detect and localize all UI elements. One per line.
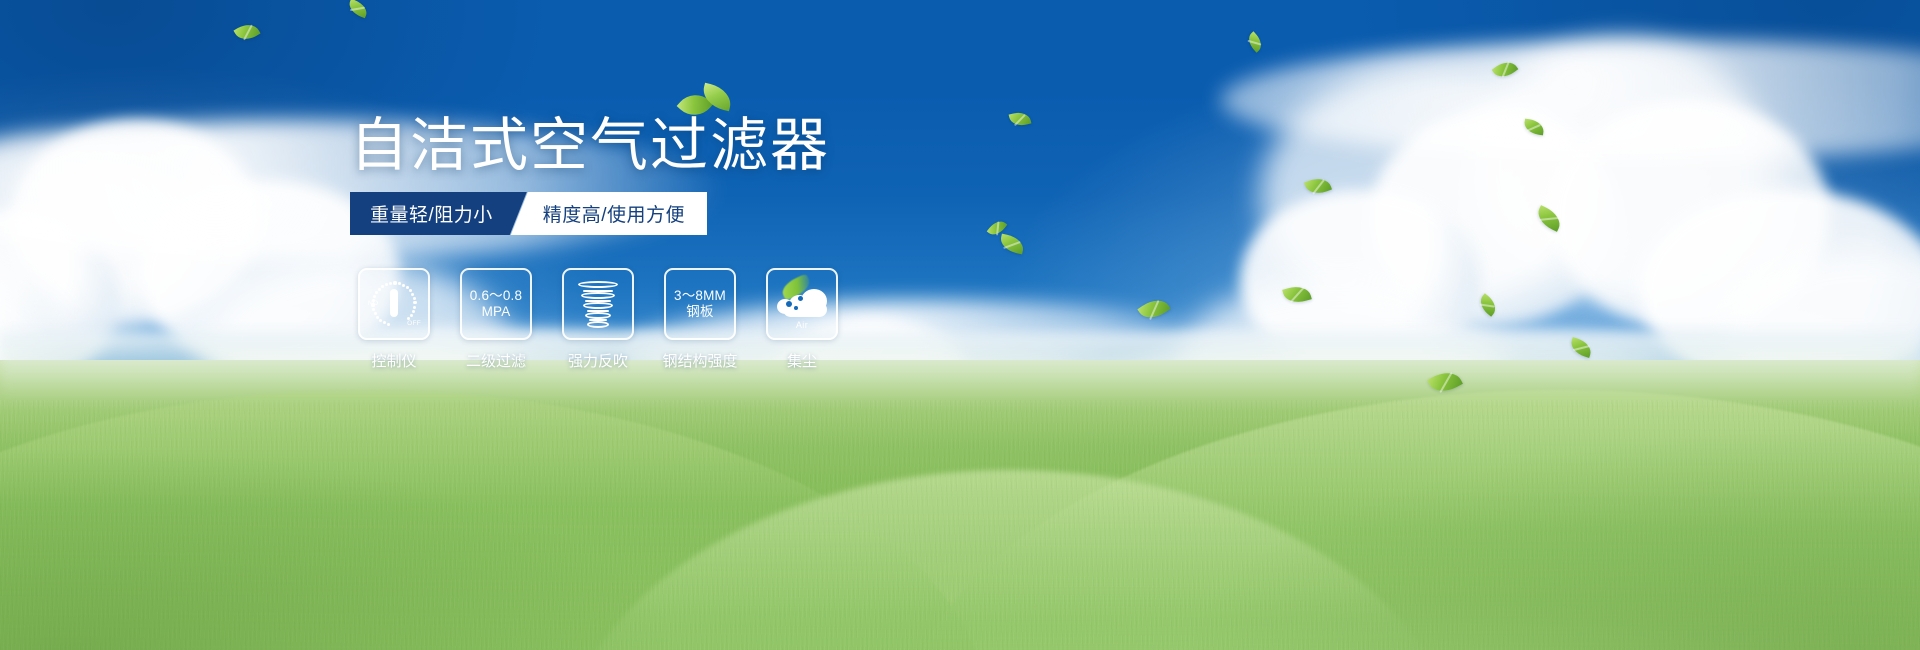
feature-box bbox=[562, 268, 634, 340]
feature-label: 强力反吹 bbox=[568, 350, 628, 371]
dial-icon: NO OFF bbox=[369, 279, 419, 329]
dial-no-label: NO bbox=[368, 300, 378, 307]
steel-material: 钢板 bbox=[686, 304, 713, 320]
pressure-value: 0.6～0.8 bbox=[470, 288, 522, 304]
feature-item-strong-backblow[interactable]: 强力反吹 bbox=[562, 268, 634, 371]
pressure-unit: MPA bbox=[482, 304, 511, 320]
feature-item-two-stage-filter[interactable]: 0.6～0.8 MPA 二级过滤 bbox=[460, 268, 532, 371]
feature-item-controller[interactable]: NO OFF 控制仪 bbox=[358, 268, 430, 371]
hero-banner: 自洁式空气过滤器 重量轻/阻力小 精度高/使用方便 NO OFF 控制仪 bbox=[0, 0, 1920, 650]
feature-box: Air bbox=[766, 268, 838, 340]
feature-label: 控制仪 bbox=[371, 350, 416, 371]
dial-off-label: OFF bbox=[407, 320, 421, 327]
feature-item-dust-collection[interactable]: Air 集尘 bbox=[766, 268, 838, 371]
page-title: 自洁式空气过滤器 bbox=[350, 117, 830, 175]
dust-cloud-icon: Air bbox=[775, 281, 829, 327]
tab-lightweight-low-resistance[interactable]: 重量轻/阻力小 bbox=[350, 192, 527, 235]
feature-label: 钢结构强度 bbox=[663, 350, 738, 371]
feature-box: NO OFF bbox=[358, 268, 430, 340]
feature-box: 0.6～0.8 MPA bbox=[460, 268, 532, 340]
feature-label: 集尘 bbox=[787, 350, 817, 371]
coil-filter-icon bbox=[576, 279, 620, 329]
feature-box: 3～8MM 钢板 bbox=[664, 268, 736, 340]
air-caption: Air bbox=[775, 320, 829, 330]
feature-label: 二级过滤 bbox=[466, 350, 526, 371]
feature-item-steel-strength[interactable]: 3～8MM 钢板 钢结构强度 bbox=[664, 268, 736, 371]
feature-icon-row: NO OFF 控制仪 0.6～0.8 MPA 二级过滤 bbox=[358, 268, 838, 371]
steel-thickness: 3～8MM bbox=[674, 288, 726, 304]
tab-high-precision-easy-use[interactable]: 精度高/使用方便 bbox=[511, 192, 707, 235]
feature-tabs: 重量轻/阻力小 精度高/使用方便 bbox=[350, 192, 707, 235]
